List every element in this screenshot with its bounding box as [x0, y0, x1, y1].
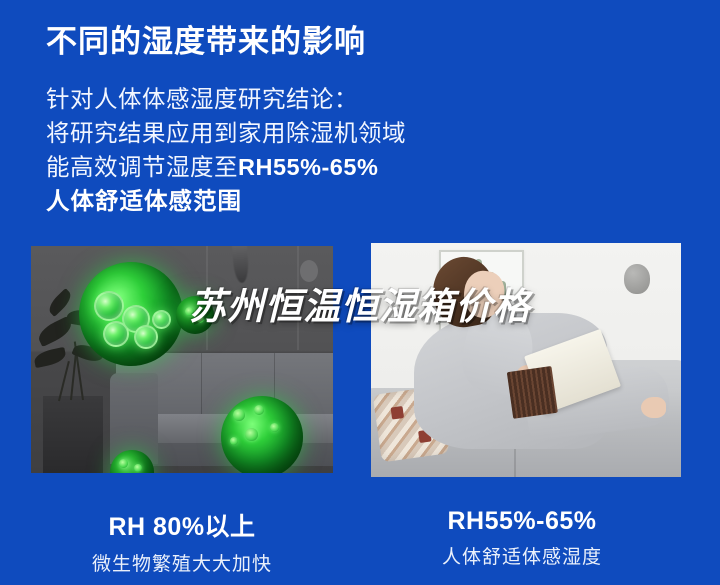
- sofa-cushion-seam: [200, 353, 202, 421]
- bright-living-room-scene: [371, 243, 681, 477]
- intro-paragraph: 针对人体体感湿度研究结论： 将研究结果应用到家用除湿机领域 能高效调节湿度至RH…: [46, 82, 406, 218]
- plant-stem: [58, 360, 70, 400]
- photo-comfort-humidity: [371, 243, 681, 477]
- intro-line-3-prefix: 能高效调节湿度至: [46, 154, 238, 180]
- caption-left-value: RH 80%以上: [27, 507, 337, 543]
- caption-left-description: 微生物繁殖大大加快: [27, 549, 337, 576]
- plant-pot: [43, 396, 103, 473]
- intro-line-4: 人体舒适体感范围: [46, 184, 406, 218]
- dark-living-room-scene: [31, 246, 333, 473]
- microbe-cell: [230, 437, 238, 445]
- cushion-motif: [391, 406, 405, 420]
- microbe-cell: [270, 423, 279, 432]
- wall-seam-line: [206, 246, 208, 350]
- microbe-cell: [134, 325, 158, 349]
- microbe-cell: [152, 310, 171, 329]
- microbe-cell: [119, 459, 128, 468]
- plant-leaf: [33, 347, 67, 368]
- wall-decor-knob: [300, 260, 318, 282]
- caption-high-humidity: RH 80%以上 微生物繁殖大大加快: [27, 507, 337, 576]
- intro-line-2: 将研究结果应用到家用除湿机领域: [46, 116, 406, 150]
- humidity-infographic-poster: 不同的湿度带来的影响 针对人体体感湿度研究结论： 将研究结果应用到家用除湿机领域…: [0, 0, 720, 585]
- wall-seam-line: [297, 246, 299, 350]
- photo-high-humidity: [31, 246, 333, 473]
- caption-right-value: RH55%-65%: [367, 507, 677, 536]
- microbe-cell: [134, 464, 142, 472]
- microbe-cell: [245, 428, 258, 441]
- pendant-lamp-icon: [232, 246, 250, 283]
- caption-comfort-humidity: RH55%-65% 人体舒适体感湿度: [367, 507, 677, 569]
- intro-line-1: 针对人体体感湿度研究结论：: [46, 82, 406, 116]
- microbe-sphere-small: [176, 296, 214, 334]
- intro-line-3: 能高效调节湿度至RH55%-65%: [46, 150, 406, 184]
- woman-foot: [641, 397, 666, 418]
- wall-decor-knob: [624, 264, 650, 294]
- page-title: 不同的湿度带来的影响: [46, 16, 366, 61]
- caption-right-description: 人体舒适体感湿度: [367, 542, 677, 569]
- rh-range-highlight: RH55%-65%: [238, 154, 378, 180]
